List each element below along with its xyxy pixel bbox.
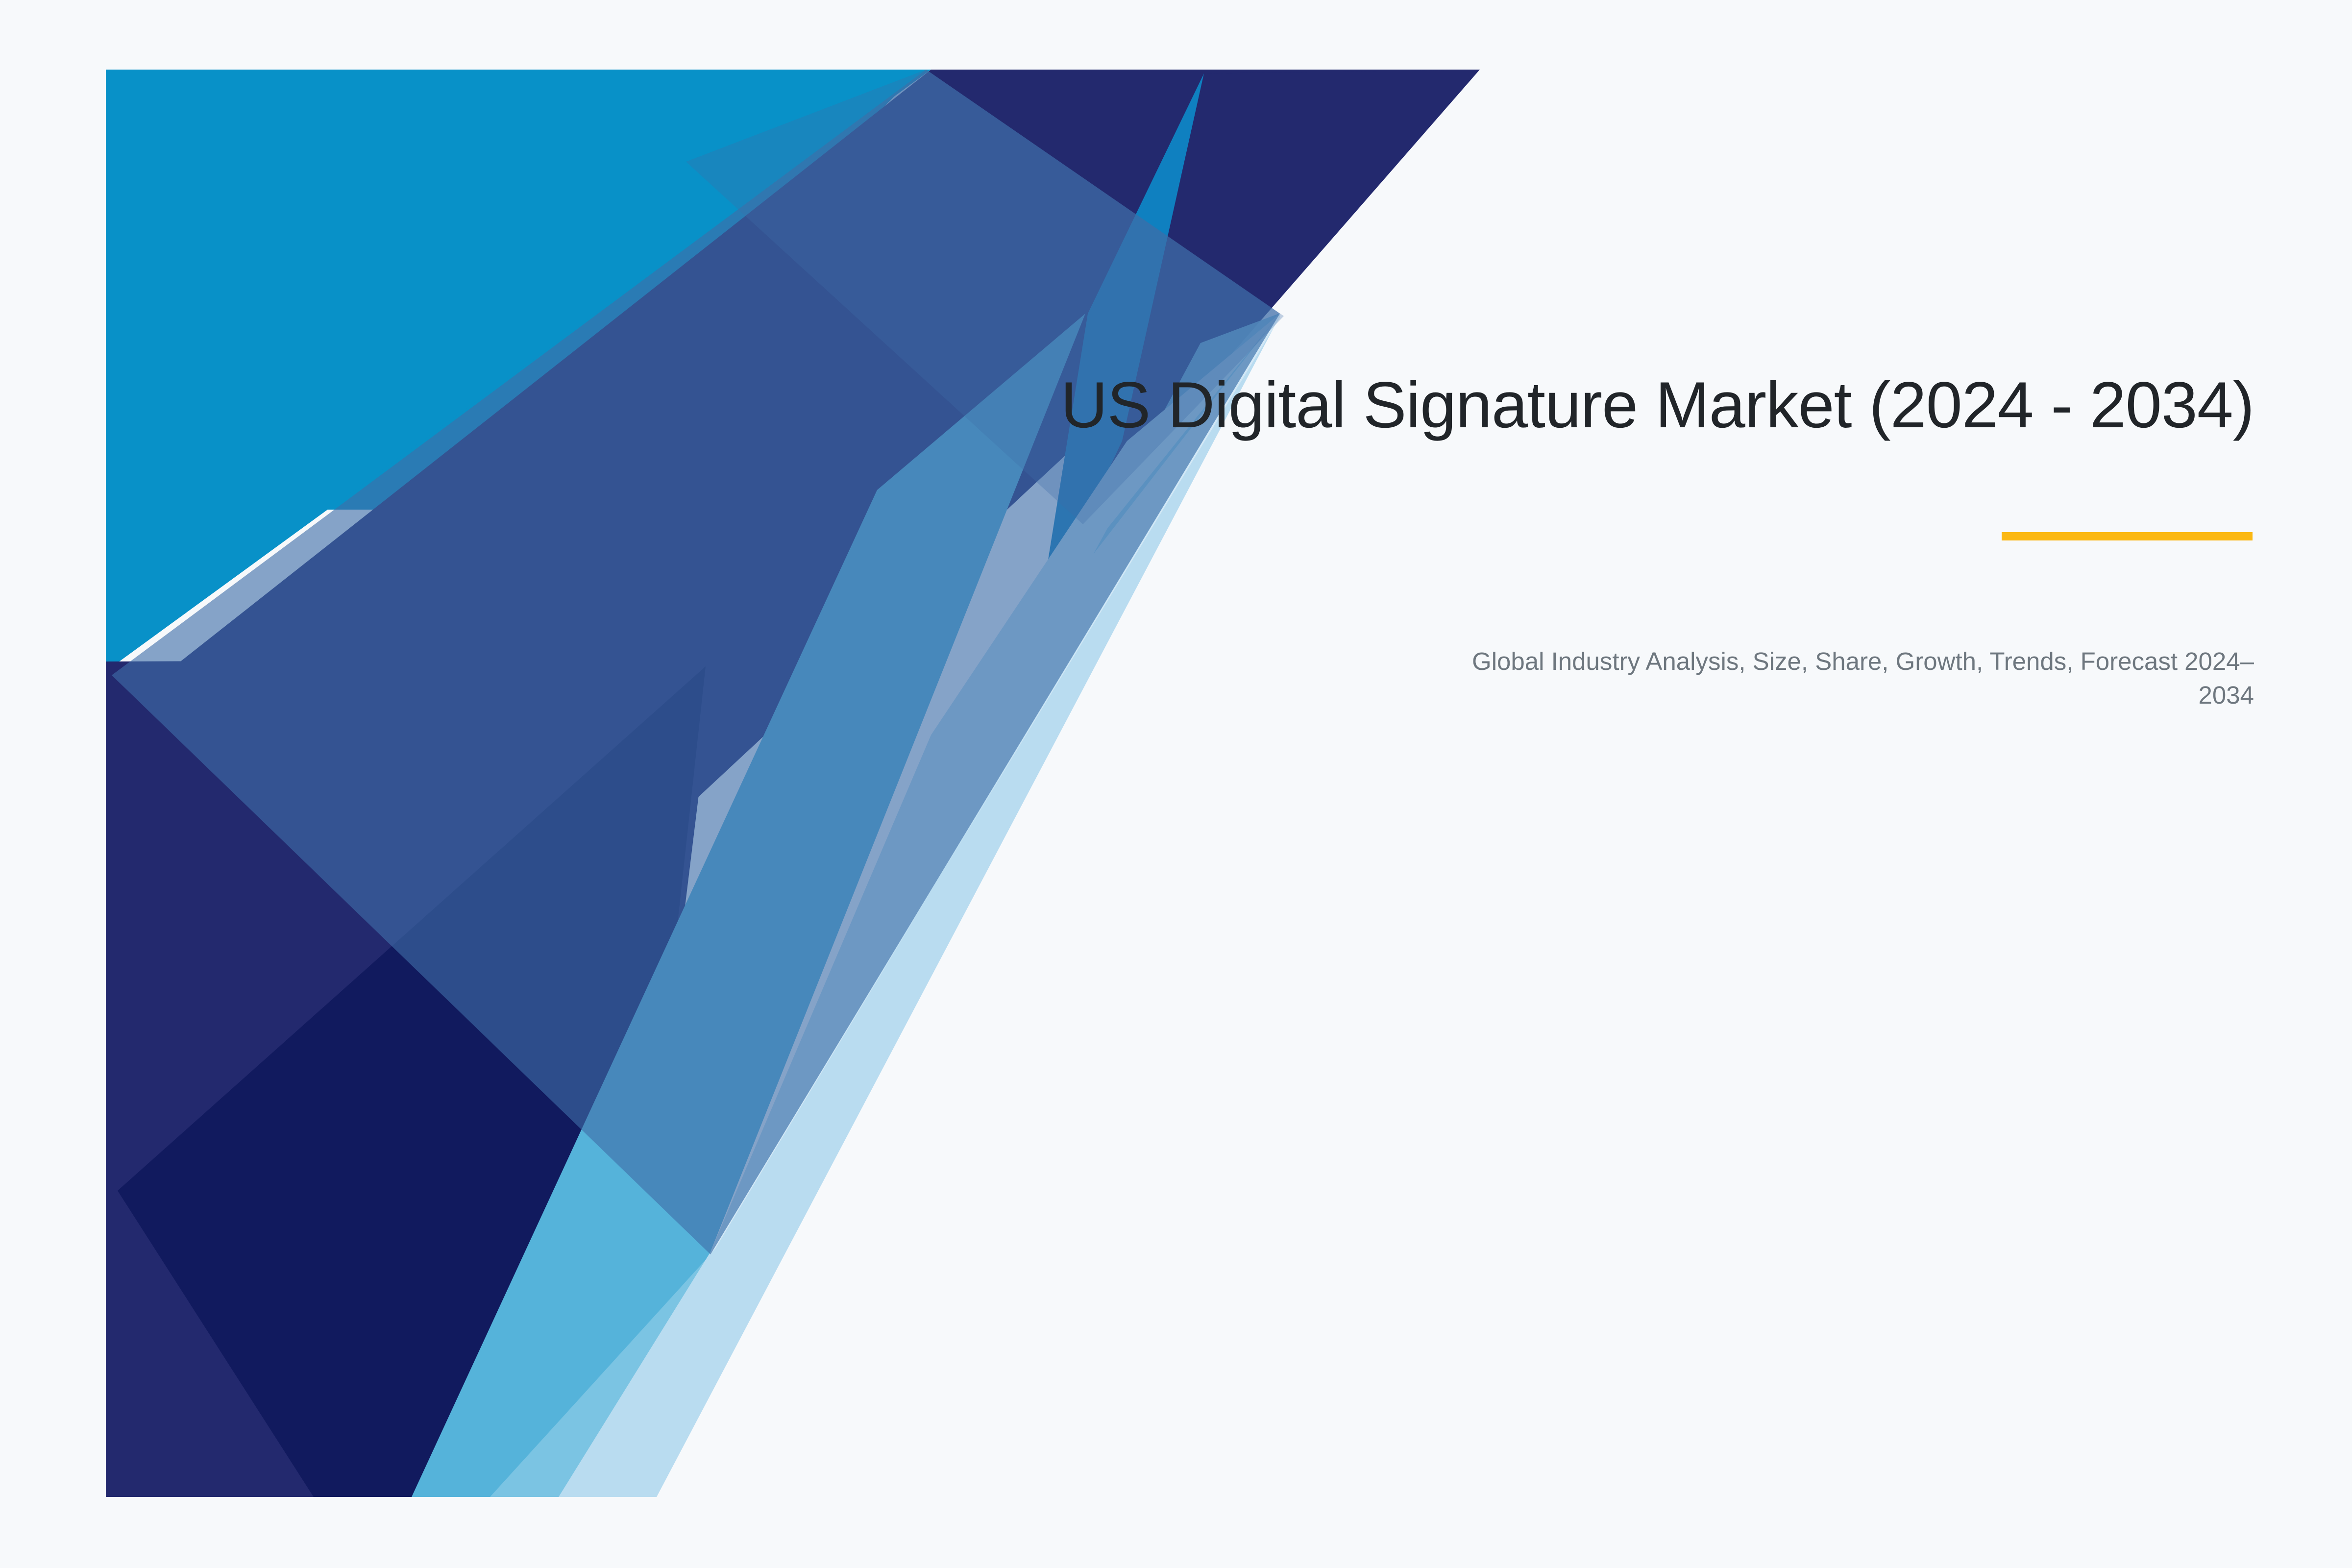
pale-blue-translucent-wedge-main: [710, 314, 1280, 1252]
navy-upper-band: [106, 70, 1480, 862]
sky-blue-wedge: [490, 314, 1279, 1497]
navy-top-right-wedge: [1083, 70, 1480, 524]
cyan-thin-spike: [1039, 73, 1204, 617]
abstract-angular-artwork: [0, 0, 2352, 1568]
very-pale-blue-sliver: [711, 314, 1280, 1252]
pale-blue-wedge-upper: [710, 314, 1280, 1252]
mid-blue-diagonal-band: [412, 314, 1085, 1497]
slate-blue-overlay-quad: [112, 70, 1280, 1254]
title-block: US Digital Signature Market (2024 - 2034…: [784, 363, 2254, 448]
pale-blue-wedge-fill: [713, 314, 1280, 1249]
navy-left-body: [106, 659, 715, 1497]
report-cover: US Digital Signature Market (2024 - 2034…: [0, 0, 2352, 1568]
page-title: US Digital Signature Market (2024 - 2034…: [784, 363, 2254, 448]
pale-blue-translucent-wedge: [559, 314, 1280, 1497]
title-accent-underline: [2002, 532, 2253, 540]
deep-navy-lower-spike: [118, 666, 706, 1497]
slate-blue-overlay-edge: [686, 70, 1284, 524]
page-subtitle: Global Industry Analysis, Size, Share, G…: [1421, 644, 2254, 712]
